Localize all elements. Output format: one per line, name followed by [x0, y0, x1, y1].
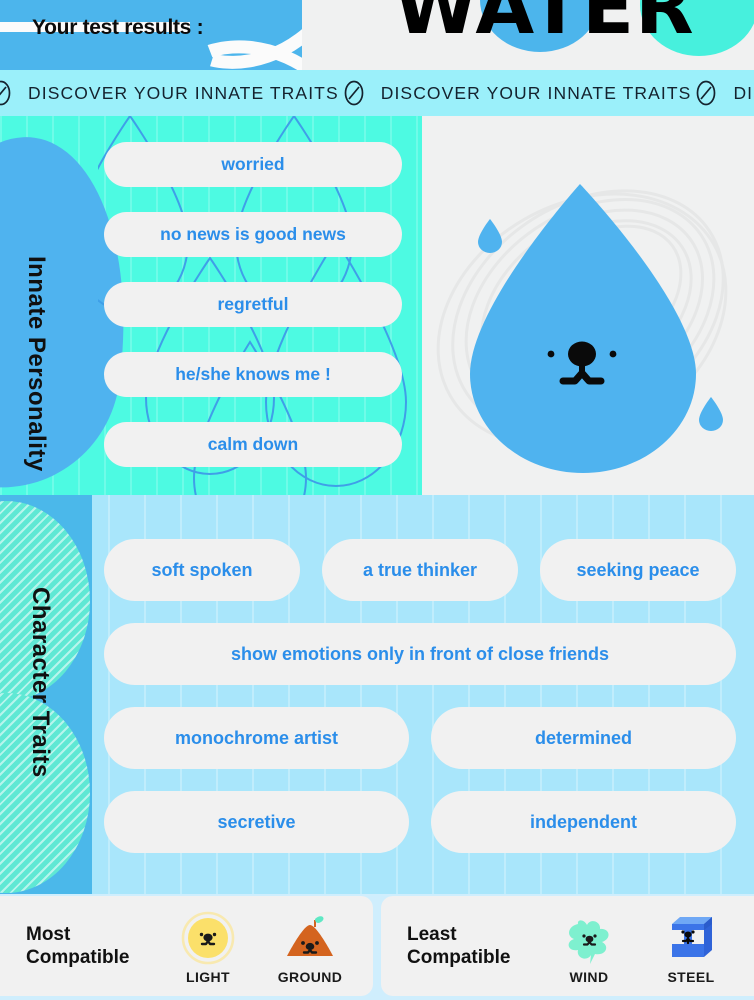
small-droplet-left	[478, 219, 502, 253]
droplet-body	[470, 184, 696, 473]
discover-ticker: DISCOVER YOUR INNATE TRAITS DISCOVER YOU…	[0, 70, 754, 116]
ticker-item: DISCOVER YOUR INNATE TRAITS	[705, 78, 754, 108]
element-light[interactable]: LIGHT	[165, 908, 251, 985]
ticker-label: DISCOVER YOUR INNATE TRAITS	[733, 83, 754, 104]
element-steel[interactable]: STEEL	[648, 908, 734, 985]
element-label: GROUND	[278, 969, 343, 985]
most-compatible-elements: LIGHT GROUND	[165, 908, 353, 985]
sun-face-icon	[180, 908, 236, 966]
least-compatible-title: Least Compatible	[407, 923, 527, 969]
most-compatible-title: Most Compatible	[26, 923, 146, 969]
trait-pill[interactable]: show emotions only in front of close fri…	[104, 623, 736, 685]
trait-pill[interactable]: he/she knows me !	[104, 352, 402, 397]
page-header: Your test results : WATER	[0, 0, 754, 70]
page-title: Your test results :	[32, 16, 203, 40]
ticker-item: DISCOVER YOUR INNATE TRAITS	[353, 78, 706, 108]
water-droplet-mascot	[422, 116, 754, 495]
trait-row: soft spoken a true thinker seeking peace	[104, 539, 736, 601]
trait-pill[interactable]: worried	[104, 142, 402, 187]
trait-pill[interactable]: calm down	[104, 422, 402, 467]
ticker-item: DISCOVER YOUR INNATE TRAITS	[0, 78, 353, 108]
least-compatible-elements: WIND	[546, 908, 734, 985]
innate-trait-list: worried no news is good news regretful h…	[104, 142, 402, 467]
mascot-panel	[422, 116, 754, 495]
wind-swirl-face-icon	[560, 908, 618, 966]
trait-pill[interactable]: soft spoken	[104, 539, 300, 601]
trait-pill[interactable]: monochrome artist	[104, 707, 409, 769]
trait-row: monochrome artist determined	[104, 707, 736, 769]
innate-personality-label: Innate Personality	[22, 256, 50, 472]
element-wind[interactable]: WIND	[546, 908, 632, 985]
least-compatible-card: Least Compatible WIND	[381, 896, 754, 996]
element-ground[interactable]: GROUND	[267, 908, 353, 985]
trait-row: show emotions only in front of close fri…	[104, 623, 736, 685]
element-title: WATER	[394, 0, 695, 51]
ticker-label: DISCOVER YOUR INNATE TRAITS	[28, 83, 339, 104]
element-label: LIGHT	[186, 969, 230, 985]
ibeam-face-icon	[662, 908, 720, 966]
small-droplet-right	[699, 397, 723, 431]
trait-row: secretive independent	[104, 791, 736, 853]
trait-pill[interactable]: a true thinker	[322, 539, 518, 601]
element-label: WIND	[570, 969, 609, 985]
trait-pill[interactable]: seeking peace	[540, 539, 736, 601]
ellipse-slash-icon	[0, 78, 16, 108]
hill-face-icon	[281, 908, 339, 966]
character-traits-list: soft spoken a true thinker seeking peace…	[104, 539, 736, 853]
character-traits-section: Character Traits soft spoken a true thin…	[0, 495, 754, 894]
trait-pill[interactable]: no news is good news	[104, 212, 402, 257]
trait-pill[interactable]: regretful	[104, 282, 402, 327]
element-label: STEEL	[667, 969, 714, 985]
most-compatible-card: Most Compatible LIGHT	[0, 896, 373, 996]
compatibility-footer: Most Compatible LIGHT	[0, 894, 754, 1000]
character-traits-label: Character Traits	[26, 587, 54, 778]
ellipse-slash-icon	[691, 78, 721, 108]
trait-pill[interactable]: independent	[431, 791, 736, 853]
trait-pill[interactable]: determined	[431, 707, 736, 769]
ellipse-slash-icon	[339, 78, 369, 108]
innate-personality-section: Innate Personality worried no news is go…	[0, 116, 422, 495]
trait-pill[interactable]: secretive	[104, 791, 409, 853]
ticker-label: DISCOVER YOUR INNATE TRAITS	[381, 83, 692, 104]
